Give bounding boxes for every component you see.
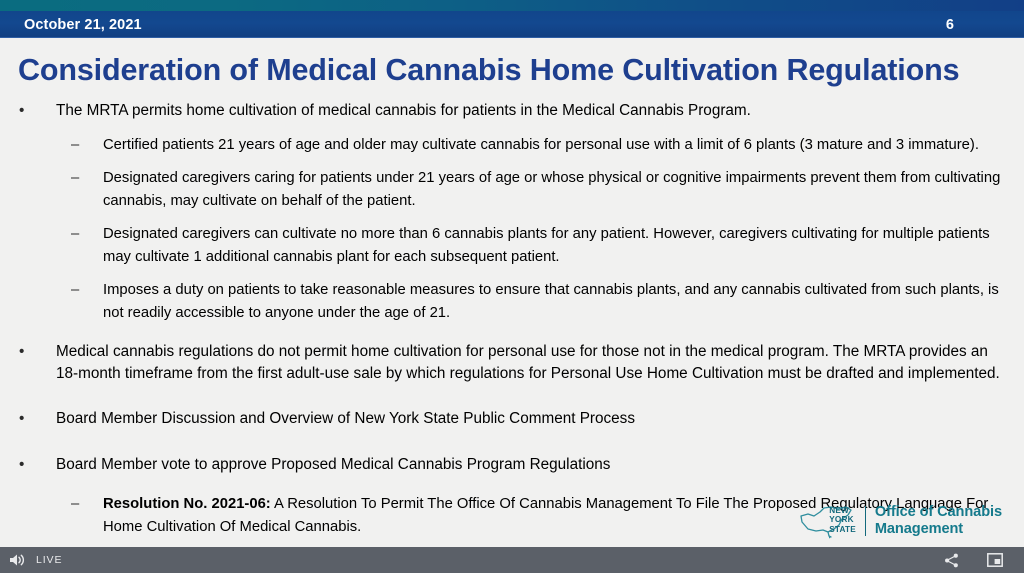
spacer bbox=[0, 325, 1024, 341]
bullet-item: • Board Member vote to approve Proposed … bbox=[0, 454, 1024, 476]
agency-name-line2: Management bbox=[875, 521, 1002, 538]
spacer bbox=[0, 213, 1024, 223]
picture-in-picture-icon bbox=[987, 553, 1003, 567]
slide-date: October 21, 2021 bbox=[24, 17, 142, 33]
logo-line-new: NEW bbox=[829, 506, 856, 515]
spacer bbox=[0, 269, 1024, 279]
new-york-state-wordmark: NEW YORK STATE bbox=[829, 506, 856, 534]
sub-bullet-item: – Imposes a duty on patients to take rea… bbox=[0, 279, 1024, 324]
share-icon bbox=[944, 553, 959, 568]
logo-divider bbox=[865, 506, 866, 536]
control-bar-right bbox=[934, 547, 1012, 573]
ocm-logo: NEW YORK STATE Office of Cannabis Manage… bbox=[798, 503, 1002, 539]
bullet-text: Board Member vote to approve Proposed Me… bbox=[56, 456, 610, 473]
bullet-item: • The MRTA permits home cultivation of m… bbox=[0, 100, 1024, 122]
bullet-marker: • bbox=[19, 454, 24, 476]
control-bar-left: LIVE bbox=[0, 547, 62, 573]
slide-title: Consideration of Medical Cannabis Home C… bbox=[18, 52, 1008, 88]
logo-line-state: STATE bbox=[829, 525, 856, 534]
agency-name: Office of Cannabis Management bbox=[875, 504, 1002, 538]
bullet-marker: • bbox=[19, 341, 24, 363]
sub-bullet-text: Certified patients 21 years of age and o… bbox=[103, 137, 979, 153]
picture-in-picture-button[interactable] bbox=[978, 547, 1012, 573]
bullet-marker: • bbox=[19, 408, 24, 430]
slide-page-number: 6 bbox=[946, 17, 954, 33]
slide-top-accent-strip bbox=[0, 0, 1024, 11]
dash-marker: – bbox=[71, 493, 79, 516]
sub-bullet-item: – Designated caregivers caring for patie… bbox=[0, 167, 1024, 212]
bullet-item: • Board Member Discussion and Overview o… bbox=[0, 408, 1024, 430]
spacer bbox=[0, 124, 1024, 134]
volume-button[interactable] bbox=[0, 547, 34, 573]
dash-marker: – bbox=[71, 167, 79, 190]
agency-name-line1: Office of Cannabis bbox=[875, 504, 1002, 521]
share-button[interactable] bbox=[934, 547, 968, 573]
dash-marker: – bbox=[71, 279, 79, 302]
slide-header-band: October 21, 2021 6 bbox=[0, 11, 1024, 38]
player-control-bar: LIVE bbox=[0, 547, 1024, 573]
bullet-text: Medical cannabis regulations do not perm… bbox=[56, 343, 1000, 382]
bullet-item: • Medical cannabis regulations do not pe… bbox=[0, 341, 1024, 384]
speaker-icon bbox=[9, 553, 25, 567]
presentation-slide: October 21, 2021 6 Consideration of Medi… bbox=[0, 0, 1024, 547]
dash-marker: – bbox=[71, 223, 79, 246]
sub-bullet-text: Designated caregivers can cultivate no m… bbox=[103, 226, 990, 265]
spacer bbox=[0, 477, 1024, 493]
bullet-text: Board Member Discussion and Overview of … bbox=[56, 410, 635, 427]
video-player: October 21, 2021 6 Consideration of Medi… bbox=[0, 0, 1024, 573]
logo-line-york: YORK bbox=[829, 515, 856, 524]
sub-bullet-item: – Certified patients 21 years of age and… bbox=[0, 134, 1024, 157]
spacer bbox=[0, 157, 1024, 167]
sub-bullet-text: Designated caregivers caring for patient… bbox=[103, 170, 1000, 209]
live-badge: LIVE bbox=[36, 554, 62, 566]
spacer bbox=[0, 432, 1024, 454]
resolution-number: Resolution No. 2021-06: bbox=[103, 496, 271, 512]
spacer bbox=[0, 386, 1024, 408]
slide-body: • The MRTA permits home cultivation of m… bbox=[0, 100, 1024, 539]
dash-marker: – bbox=[71, 134, 79, 157]
sub-bullet-item: – Designated caregivers can cultivate no… bbox=[0, 223, 1024, 268]
bullet-text: The MRTA permits home cultivation of med… bbox=[56, 102, 751, 119]
sub-bullet-text: Imposes a duty on patients to take reaso… bbox=[103, 282, 999, 321]
bullet-marker: • bbox=[19, 100, 24, 122]
